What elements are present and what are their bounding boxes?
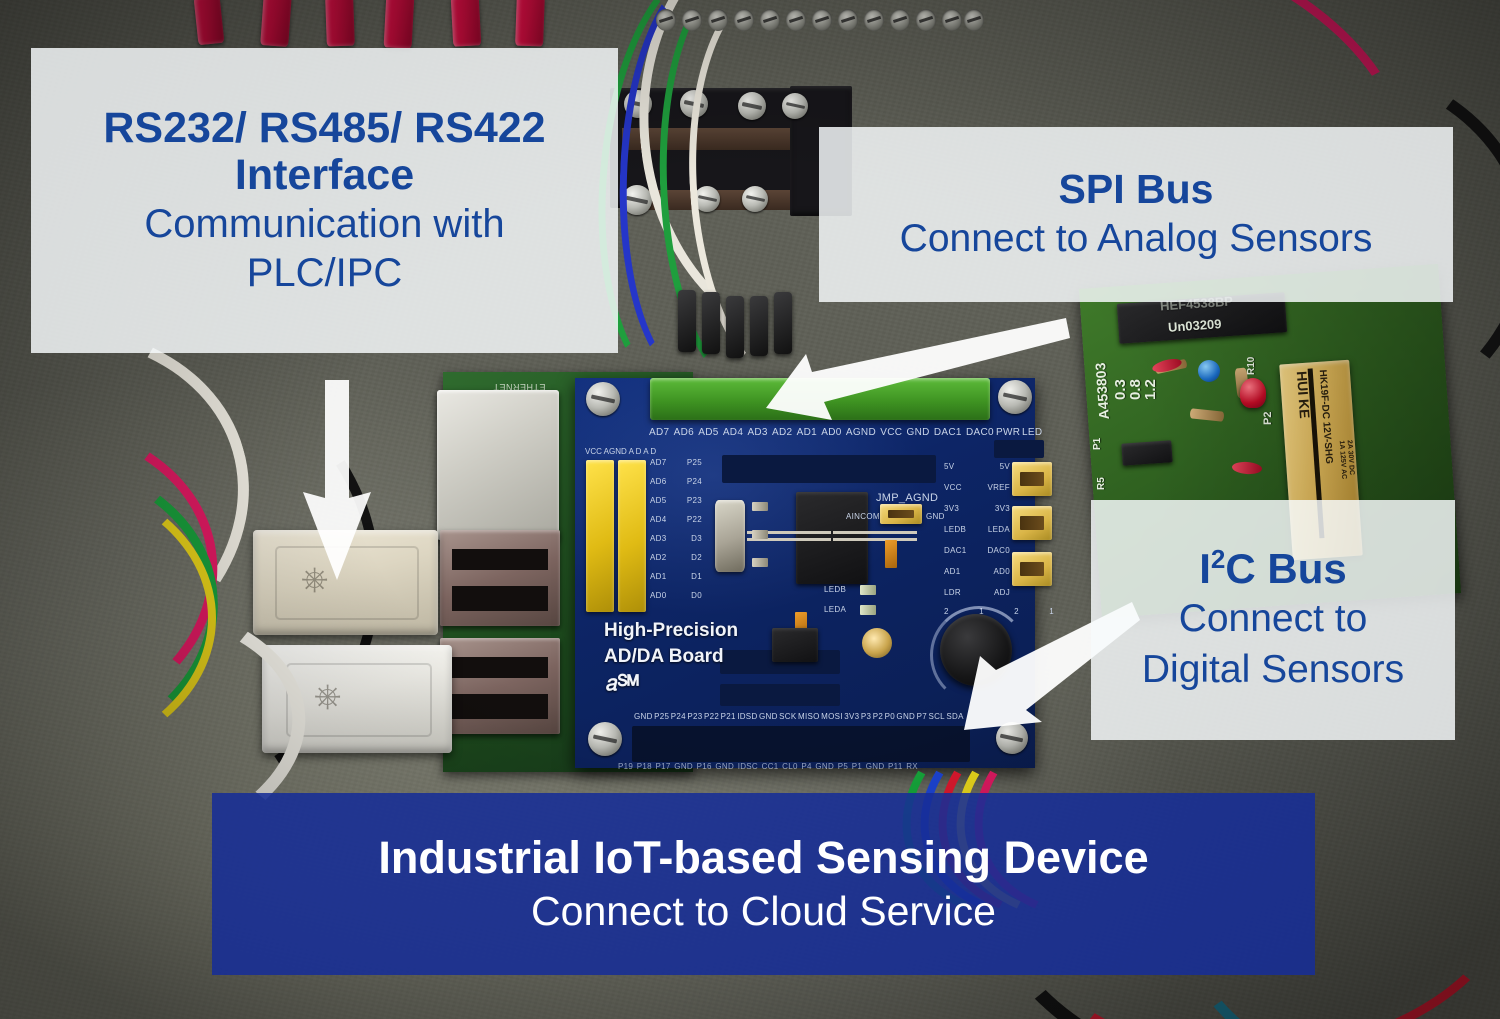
callout-i2c-subtitle-line2: Digital Sensors	[1142, 647, 1404, 694]
callout-serial-interface: RS232/ RS485/ RS422 Interface Communicat…	[31, 48, 618, 353]
banner-subtitle: Connect to Cloud Service	[531, 888, 996, 935]
callout-i2c-subtitle-line1: Connect to	[1179, 596, 1368, 643]
callout-serial-subtitle-line1: Communication with	[144, 201, 504, 247]
callout-serial-title-line2: Interface	[235, 152, 414, 199]
callout-i2c-title: I2C Bus	[1199, 546, 1347, 592]
callout-i2c-title-suffix: C Bus	[1225, 545, 1346, 592]
callout-i2c-title-superscript: 2	[1211, 544, 1225, 574]
callout-spi-title: SPI Bus	[1059, 167, 1214, 212]
annotated-photo-figure: ETHERNET USB ⎈ ⎈	[0, 0, 1500, 1019]
callout-spi-bus: SPI Bus Connect to Analog Sensors	[819, 127, 1453, 302]
callout-serial-title: RS232/ RS485/ RS422	[103, 105, 545, 152]
callout-spi-subtitle: Connect to Analog Sensors	[900, 216, 1373, 261]
banner-title: Industrial IoT-based Sensing Device	[378, 833, 1148, 883]
bottom-banner: Industrial IoT-based Sensing Device Conn…	[212, 793, 1315, 975]
callout-serial-subtitle-line2: PLC/IPC	[247, 250, 403, 296]
callout-i2c-title-prefix: I	[1199, 545, 1211, 592]
callout-i2c-bus: I2C Bus Connect to Digital Sensors	[1091, 500, 1455, 740]
